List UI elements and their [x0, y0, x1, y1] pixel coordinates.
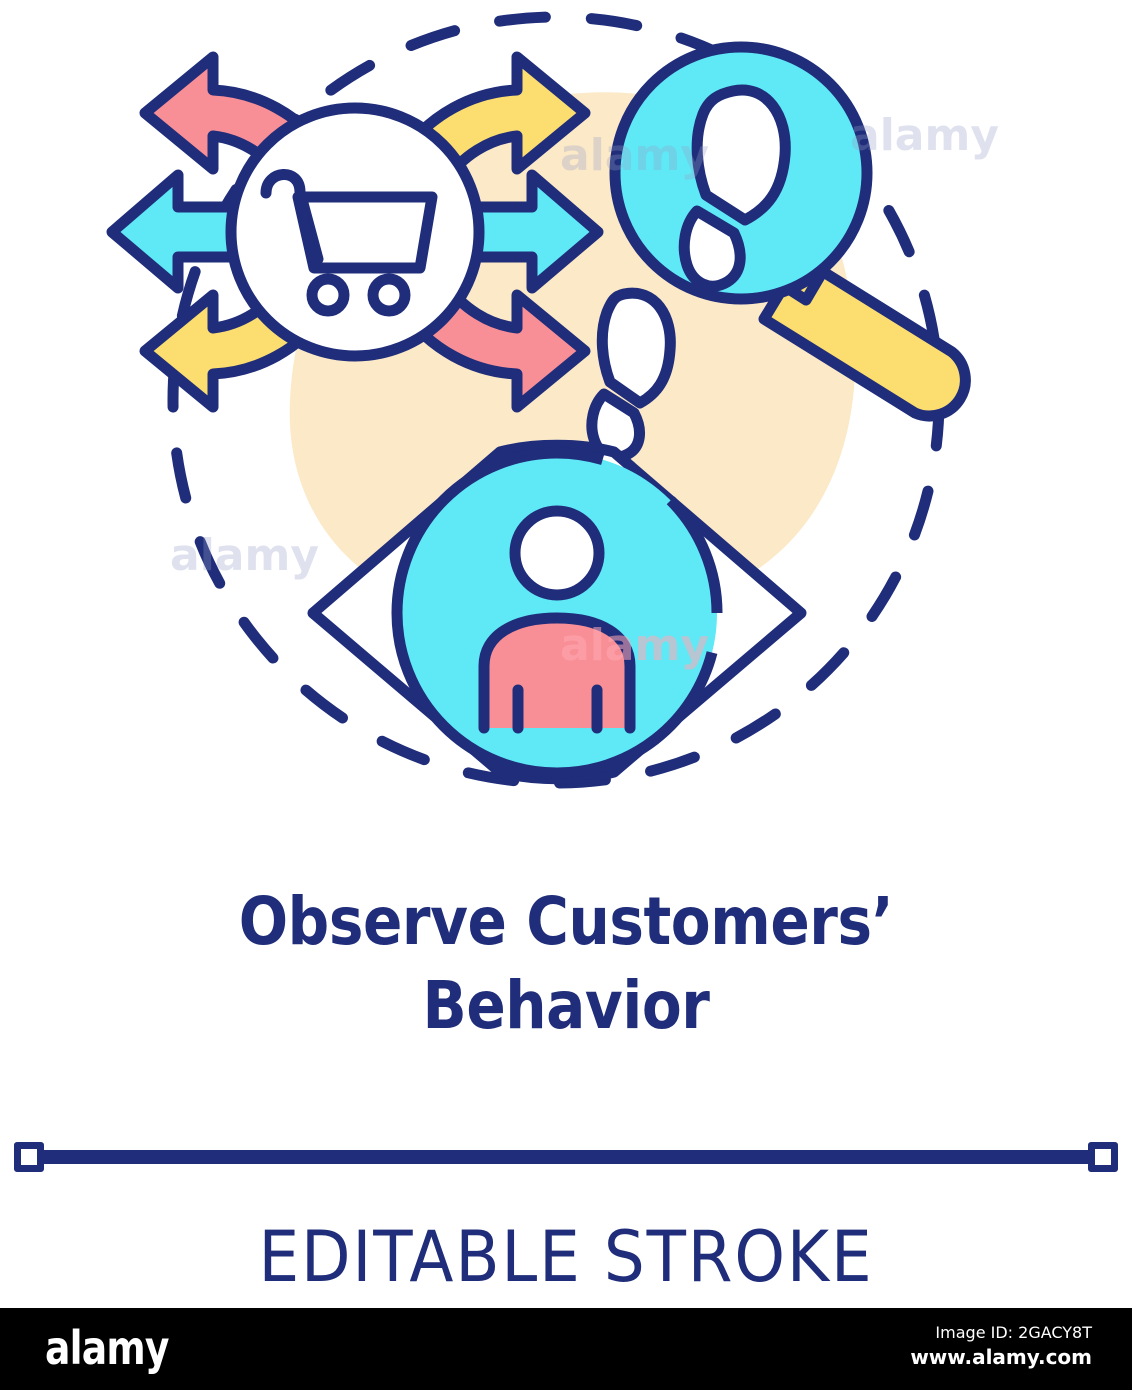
- concept-title: Observe Customers’ Behavior: [0, 880, 1132, 1048]
- stroke-slider-handle-left[interactable]: [14, 1142, 44, 1172]
- stroke-slider-handle-right[interactable]: [1088, 1142, 1118, 1172]
- person-body-icon: [484, 618, 630, 728]
- alamy-footer-bar: alamy Image ID: 2GACY8T www.alamy.com: [0, 1308, 1132, 1390]
- footer-url[interactable]: www.alamy.com: [910, 1344, 1092, 1370]
- alamy-logo: alamy: [45, 1322, 169, 1374]
- title-line-2: Behavior: [68, 964, 1064, 1048]
- footer-metadata: Image ID: 2GACY8T www.alamy.com: [910, 1322, 1092, 1370]
- editable-stroke-slider[interactable]: [0, 1128, 1132, 1200]
- person-head-icon: [515, 511, 599, 595]
- editable-stroke-caption: EDITABLE STROKE: [45, 1218, 1086, 1296]
- illustration-svg: [0, 0, 1132, 860]
- footer-image-id: Image ID: 2GACY8T: [910, 1322, 1092, 1344]
- shopping-cart-circle: [231, 108, 479, 356]
- concept-illustration: alamy alamy alamy alamy: [0, 0, 1132, 860]
- footprint-outside-sole-icon: [602, 293, 670, 403]
- footprint-in-lens-sole-icon: [697, 90, 785, 220]
- stroke-slider-track[interactable]: [42, 1150, 1090, 1164]
- title-line-1: Observe Customers’: [68, 880, 1064, 964]
